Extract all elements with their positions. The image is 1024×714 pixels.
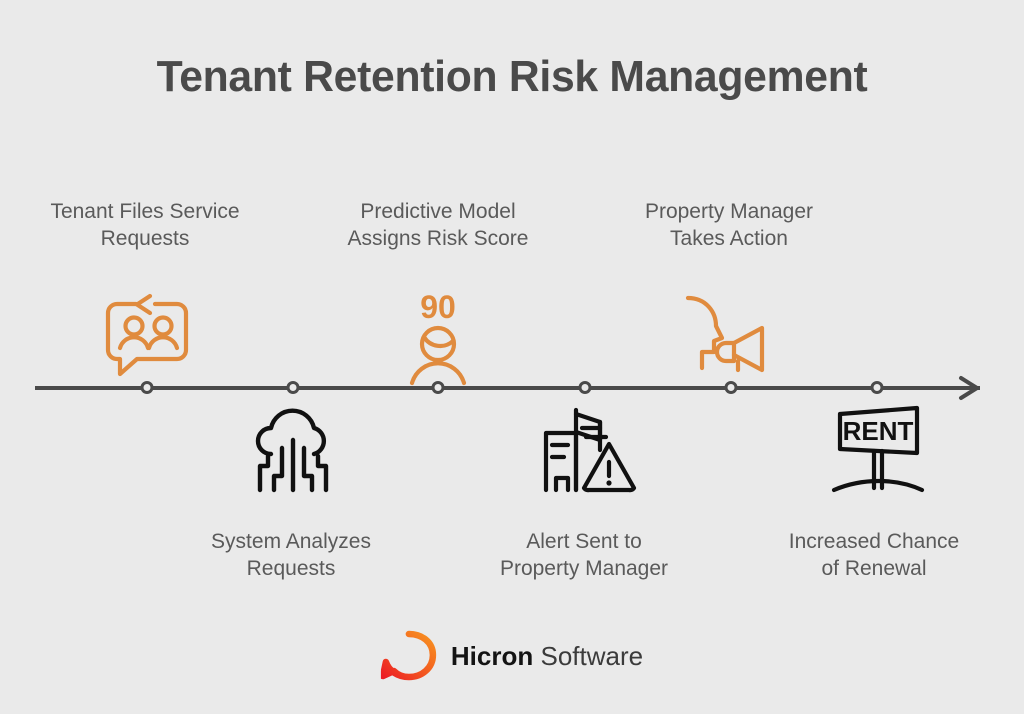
logo-brand: Hicron — [451, 641, 533, 671]
megaphone-announcement-icon — [676, 288, 786, 388]
logo-text: Hicron Software — [451, 641, 643, 672]
logo-suffix: Software — [540, 641, 643, 671]
step-label-5: Property Manager Takes Action — [599, 198, 859, 252]
timeline-node-dot-6 — [871, 381, 884, 394]
page-title: Tenant Retention Risk Management — [15, 52, 1008, 102]
rent-sign-icon: RENT — [822, 400, 932, 500]
hicron-software-logo: Hicron Software — [381, 630, 643, 682]
step-label-2-line2: Requests — [161, 555, 421, 582]
step-label-6: Increased Chance of Renewal — [744, 528, 1004, 582]
step-label-2: System Analyzes Requests — [161, 528, 421, 582]
step-label-4: Alert Sent to Property Manager — [454, 528, 714, 582]
step-label-3-line1: Predictive Model — [308, 198, 568, 225]
step-label-1-line2: Requests — [15, 225, 275, 252]
step-label-3-line2: Assigns Risk Score — [308, 225, 568, 252]
chat-bubble-people-icon — [92, 288, 202, 388]
infographic-canvas: Tenant Retention Risk Management Tenant … — [0, 0, 1024, 714]
timeline-node-dot-4 — [579, 381, 592, 394]
step-label-1: Tenant Files Service Requests — [15, 198, 275, 252]
risk-score-value: 90 — [420, 289, 456, 325]
step-label-5-line1: Property Manager — [599, 198, 859, 225]
step-label-4-line1: Alert Sent to — [454, 528, 714, 555]
step-label-5-line2: Takes Action — [599, 225, 859, 252]
building-alert-icon — [530, 400, 640, 500]
step-label-6-line1: Increased Chance — [744, 528, 1004, 555]
timeline-node-dot-2 — [287, 381, 300, 394]
cloud-circuit-icon — [238, 400, 348, 500]
step-label-2-line1: System Analyzes — [161, 528, 421, 555]
risk-score-person-icon: 90 — [383, 288, 493, 388]
rent-sign-text: RENT — [843, 416, 914, 446]
step-label-4-line2: Property Manager — [454, 555, 714, 582]
step-label-6-line2: of Renewal — [744, 555, 1004, 582]
hicron-ring-logo-icon — [381, 630, 437, 682]
step-label-3: Predictive Model Assigns Risk Score — [308, 198, 568, 252]
timeline-arrow-icon — [955, 374, 985, 402]
step-label-1-line1: Tenant Files Service — [15, 198, 275, 225]
